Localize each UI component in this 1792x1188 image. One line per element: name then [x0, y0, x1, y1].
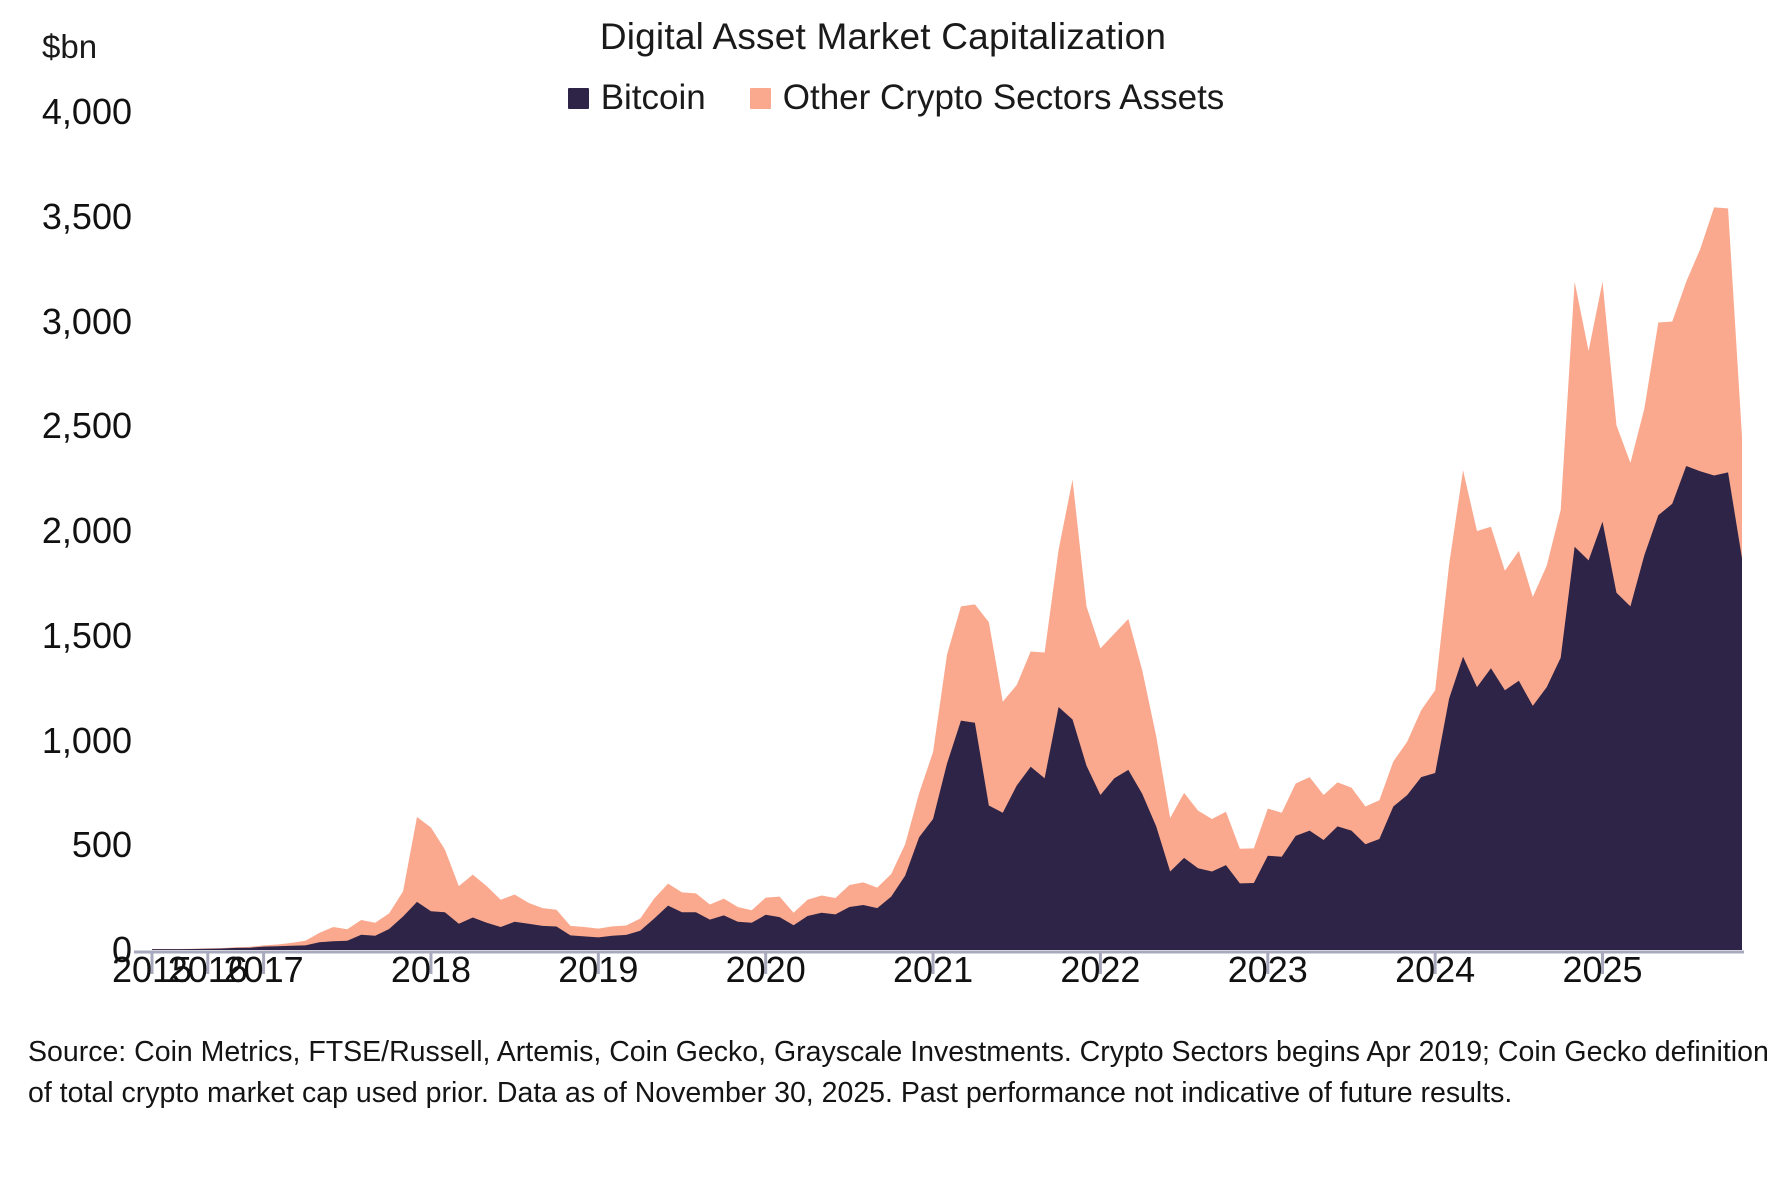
y-axis-tick-label: 4,000 [6, 94, 132, 130]
area-series-group [152, 207, 1742, 950]
y-axis-tick-label: 1,000 [6, 723, 132, 759]
x-axis-tick-label: 2024 [1395, 952, 1475, 988]
x-axis-tick-label: 2019 [558, 952, 638, 988]
x-axis-tick-label: 2025 [1562, 952, 1642, 988]
y-axis-tick-label: 3,500 [6, 199, 132, 235]
y-axis-tick-label: 2,500 [6, 408, 132, 444]
source-footnote: Source: Coin Metrics, FTSE/Russell, Arte… [28, 1032, 1770, 1114]
x-axis-tick-label: 2021 [893, 952, 973, 988]
y-axis-tick-label: 2,000 [6, 513, 132, 549]
y-axis-tick-label: 1,500 [6, 618, 132, 654]
y-axis-tick-label: 3,000 [6, 304, 132, 340]
x-axis-tick-label: 2023 [1228, 952, 1308, 988]
x-axis-tick-label: 2018 [391, 952, 471, 988]
chart-figure: $bn Digital Asset Market Capitalization … [0, 0, 1792, 1188]
x-axis-labels: 2015201620172018201920202021202220232024… [0, 952, 1792, 1012]
x-axis-tick-label: 2022 [1060, 952, 1140, 988]
x-axis-tick-label: 2020 [726, 952, 806, 988]
x-axis-tick-label: 2017 [224, 952, 304, 988]
y-axis-tick-label: 500 [6, 827, 132, 863]
